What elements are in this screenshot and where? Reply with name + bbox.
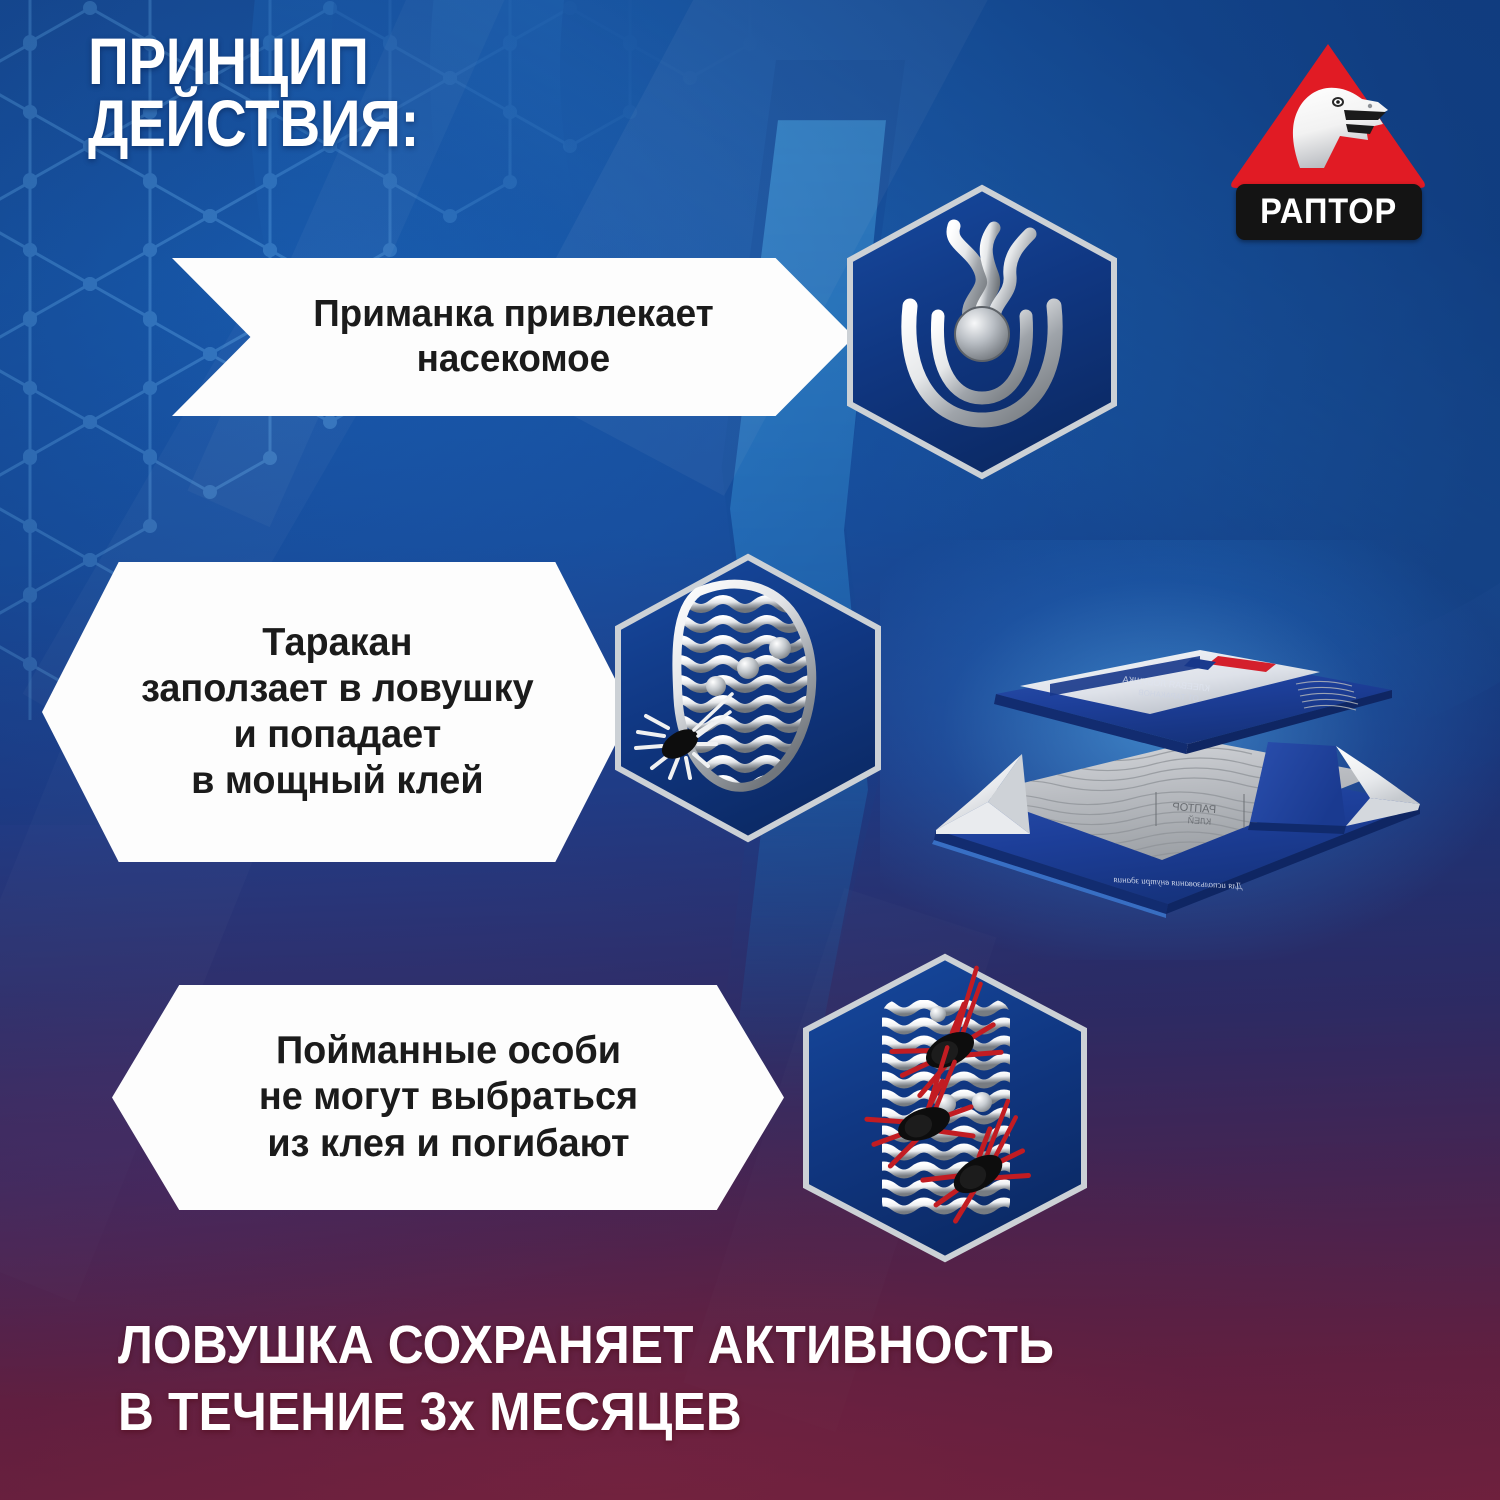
page-title: ПРИНЦИП ДЕЙСТВИЯ: <box>88 30 419 154</box>
svg-text:КЛЕЙ: КЛЕЙ <box>1187 814 1211 827</box>
glue-trap-assembled-photo: РАПТОР КЛЕЙ КЛЕЕВАЯ Л <box>900 598 1470 928</box>
brand-logo: РАПТОР <box>1228 40 1428 255</box>
footer-headline: ЛОВУШКА СОХРАНЯЕТ АКТИВНОСТЬ В ТЕЧЕНИЕ 3… <box>118 1312 1314 1446</box>
poster-canvas: ПРИНЦИП ДЕЙСТВИЯ: РАПТО <box>0 0 1500 1500</box>
brand-name: РАПТОР <box>1260 192 1397 232</box>
cockroach-entering-glue-icon <box>612 552 884 844</box>
step-3-label: Пойманные особи не могут выбраться из кл… <box>214 1028 683 1166</box>
dead-cockroaches-stuck-icon <box>800 952 1090 1264</box>
step-2-callout: Таракан заползает в ловушку и попадает в… <box>42 562 632 862</box>
step-1-callout: Приманка привлекает насекомое <box>172 258 854 416</box>
bait-aroma-sphere-icon <box>842 182 1122 482</box>
step-1-label: Приманка привлекает насекомое <box>268 292 758 382</box>
brand-wordmark: РАПТОР <box>1236 184 1422 240</box>
step-3-callout: Пойманные особи не могут выбраться из кл… <box>112 985 784 1210</box>
raptor-dinosaur-head-icon <box>1228 40 1428 190</box>
step-2-label: Таракан заползает в ловушку и попадает в… <box>96 620 578 804</box>
